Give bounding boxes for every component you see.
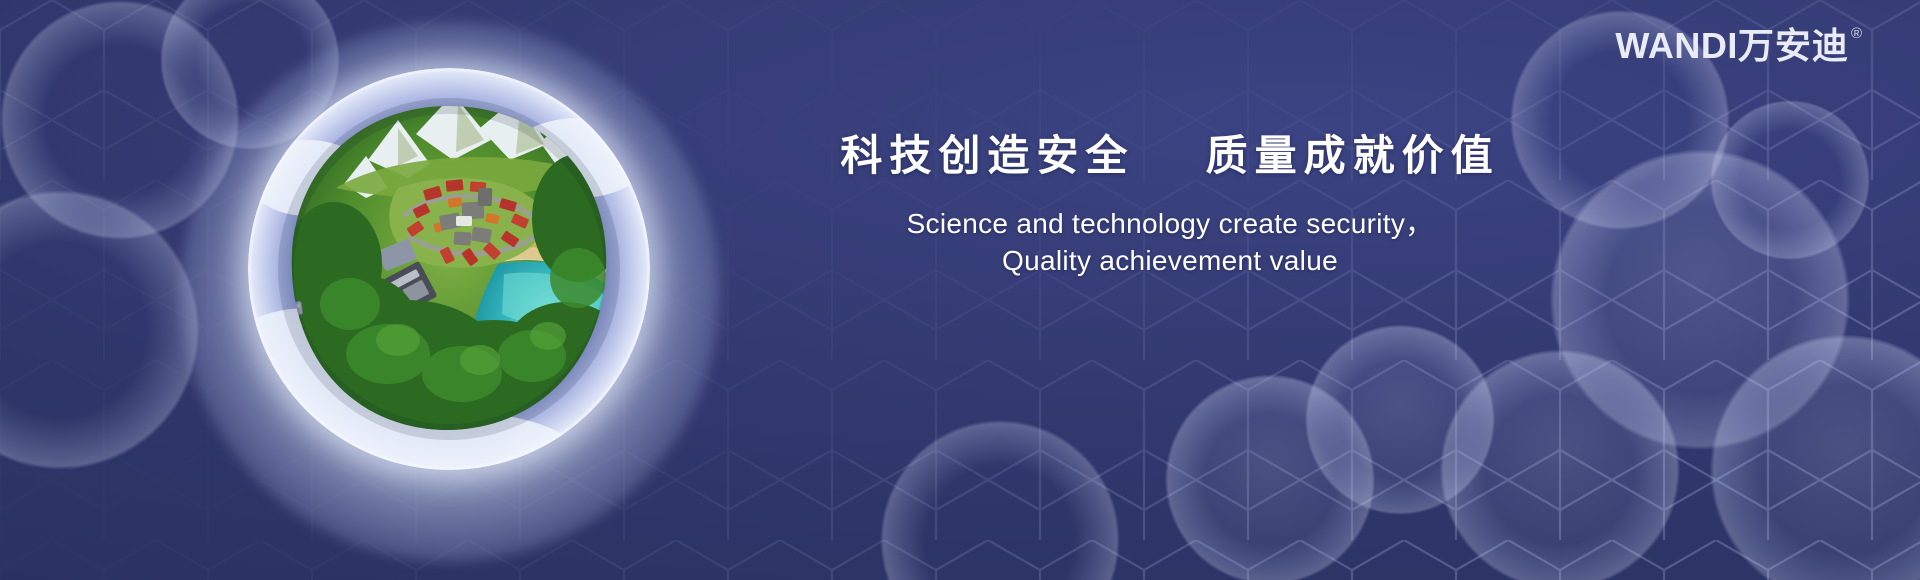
headline: 科技创造安全 质量成就价值 <box>760 130 1580 183</box>
brand-logo[interactable]: WANDI 万安迪 ® <box>1615 28 1862 64</box>
headline-part-1: 科技创造安全 <box>840 132 1134 179</box>
globe-graphic <box>180 22 720 562</box>
brand-logo-chinese: 万安迪 <box>1738 28 1849 64</box>
subtitle-line-1: Science and technology create security， <box>760 205 1580 243</box>
registered-trademark-icon: ® <box>1851 26 1862 41</box>
subtitle-line-2: Quality achievement value <box>760 242 1580 280</box>
banner-copy: 科技创造安全 质量成就价值 Science and technology cre… <box>760 130 1580 280</box>
tiny-planet-icon <box>248 68 650 470</box>
brand-logo-latin: WANDI <box>1615 28 1738 64</box>
tiny-planet-image <box>248 68 650 470</box>
headline-part-2: 质量成就价值 <box>1206 132 1500 179</box>
subtitle: Science and technology create security， … <box>760 205 1580 281</box>
promo-banner: 科技创造安全 质量成就价值 Science and technology cre… <box>0 0 1920 580</box>
